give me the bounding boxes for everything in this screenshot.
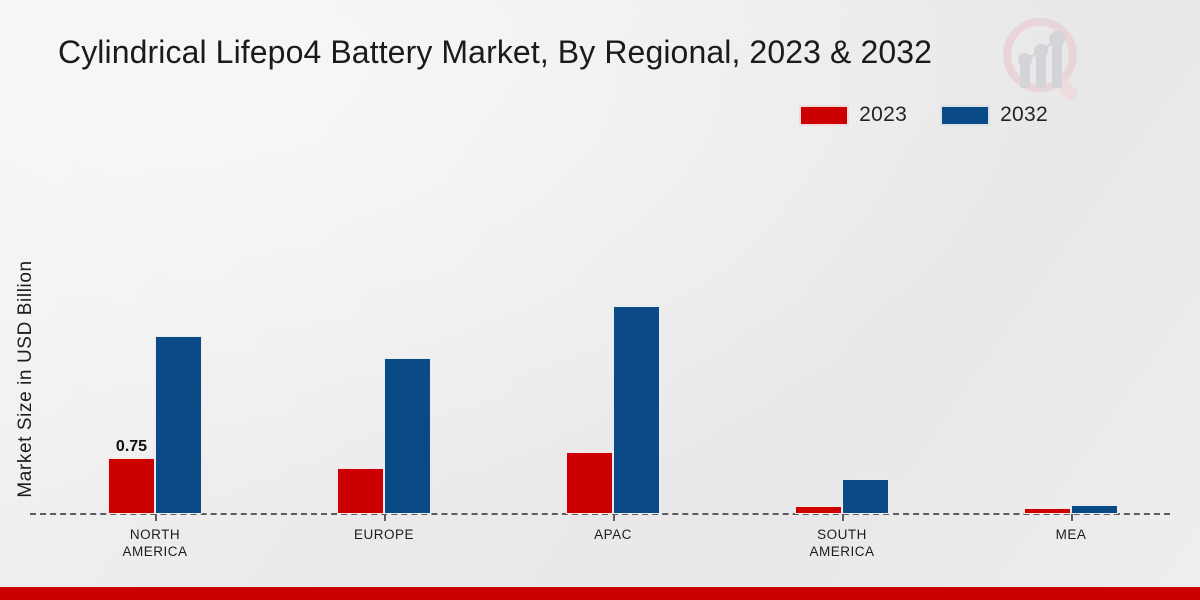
category-label-line1: APAC (536, 526, 690, 543)
axis-tick-apac (613, 514, 615, 521)
bars-europe (337, 358, 431, 514)
category-label-apac: APAC (536, 526, 690, 543)
category-label-line1: SOUTH (765, 526, 919, 543)
bar-north-america-2032[interactable] (155, 336, 202, 514)
category-label-south-america: SOUTH AMERICA (765, 526, 919, 560)
axis-tick-mea (1071, 514, 1073, 521)
bars-south-america (795, 479, 889, 514)
axis-tick-europe (384, 514, 386, 521)
axis-tick-south-america (842, 514, 844, 521)
bar-europe-2032[interactable] (384, 358, 431, 514)
bar-europe-2023[interactable] (337, 468, 384, 514)
category-label-line1: MEA (994, 526, 1148, 543)
bars-north-america (108, 336, 202, 514)
bar-apac-2032[interactable] (613, 306, 660, 514)
plot-area: Market Size in USD Billion 0.75 NORTH AM… (0, 0, 1200, 600)
bar-south-america-2032[interactable] (842, 479, 889, 514)
bar-south-america-2023[interactable] (795, 506, 842, 514)
bar-apac-2023[interactable] (566, 452, 613, 514)
bars-apac (566, 306, 660, 514)
y-axis-title: Market Size in USD Billion (15, 219, 37, 539)
footer-accent-bar (0, 587, 1200, 600)
category-label-line1: EUROPE (307, 526, 461, 543)
category-label-line2: AMERICA (765, 543, 919, 560)
category-label-line1: NORTH (78, 526, 232, 543)
bar-north-america-2023[interactable] (108, 458, 155, 514)
category-label-north-america: NORTH AMERICA (78, 526, 232, 560)
chart-container: Cylindrical Lifepo4 Battery Market, By R… (0, 0, 1200, 600)
category-label-europe: EUROPE (307, 526, 461, 543)
category-label-line2: AMERICA (78, 543, 232, 560)
bar-mea-2032[interactable] (1071, 505, 1118, 514)
bar-mea-2023[interactable] (1024, 508, 1071, 514)
axis-tick-north-america (155, 514, 157, 521)
category-label-mea: MEA (994, 526, 1148, 543)
bars-mea (1024, 505, 1118, 514)
